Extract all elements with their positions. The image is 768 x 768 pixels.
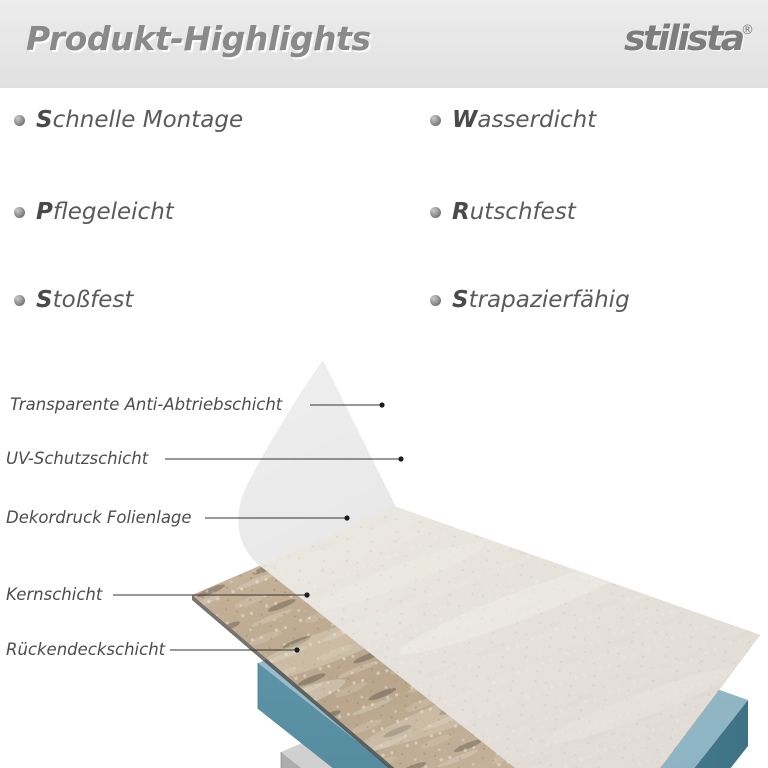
sphere-bullet-icon xyxy=(430,115,441,126)
feature-label: Stoßfest xyxy=(36,287,133,313)
feature-item-stossfest: Stoßfest xyxy=(14,287,133,313)
sphere-bullet-icon xyxy=(14,115,25,126)
feature-rest: utschfest xyxy=(470,199,576,225)
feature-item-pflegeleicht: Pflegeleicht xyxy=(14,199,174,225)
feature-rest: flegeleicht xyxy=(53,199,174,225)
feature-highlights-list: Schnelle Montage Pflegeleicht Stoßfest W… xyxy=(0,88,768,346)
sphere-bullet-icon xyxy=(430,295,441,306)
feature-initial: S xyxy=(452,287,469,313)
layer-label-decor: Dekordruck Folienlage xyxy=(6,508,192,527)
feature-rest: asserdicht xyxy=(477,107,596,133)
feature-rest: trapazierfähig xyxy=(469,287,630,313)
header-bar: Produkt-Highlights stilista ® xyxy=(0,0,768,88)
brand-logo: stilista ® xyxy=(624,22,754,66)
feature-label: Schnelle Montage xyxy=(36,107,243,133)
layer-label-core: Kernschicht xyxy=(6,585,102,604)
feature-initial: R xyxy=(452,199,470,225)
feature-item-strapazierfaehig: Strapazierfähig xyxy=(430,287,630,313)
sphere-bullet-icon xyxy=(14,295,25,306)
layer-label-wear: Transparente Anti-Abtriebschicht xyxy=(10,395,282,414)
feature-label: Rutschfest xyxy=(452,199,576,225)
sphere-bullet-icon xyxy=(430,207,441,218)
page-title: Produkt-Highlights xyxy=(26,19,371,58)
feature-label: Wasserdicht xyxy=(452,107,596,133)
feature-item-schnelle-montage: Schnelle Montage xyxy=(14,107,243,133)
feature-rest: toßfest xyxy=(53,287,134,313)
product-highlights-infographic: Produkt-Highlights stilista ® Schnelle M… xyxy=(0,0,768,768)
feature-rest: chnelle Montage xyxy=(53,107,244,133)
layer-label-uv: UV-Schutzschicht xyxy=(6,449,148,468)
layer-structure-diagram: Transparente Anti-Abtriebschicht UV-Schu… xyxy=(0,346,768,768)
brand-wordmark: stilista xyxy=(624,22,742,57)
feature-initial: S xyxy=(36,107,53,133)
feature-label: Pflegeleicht xyxy=(36,199,174,225)
feature-item-rutschfest: Rutschfest xyxy=(430,199,576,225)
sphere-bullet-icon xyxy=(14,207,25,218)
layer-label-backing: Rückendeckschicht xyxy=(6,640,165,659)
feature-initial: P xyxy=(36,199,53,225)
registered-trademark-icon: ® xyxy=(741,24,754,37)
feature-initial: W xyxy=(452,107,477,133)
feature-label: Strapazierfähig xyxy=(452,287,630,313)
feature-initial: S xyxy=(36,287,53,313)
feature-item-wasserdicht: Wasserdicht xyxy=(430,107,596,133)
